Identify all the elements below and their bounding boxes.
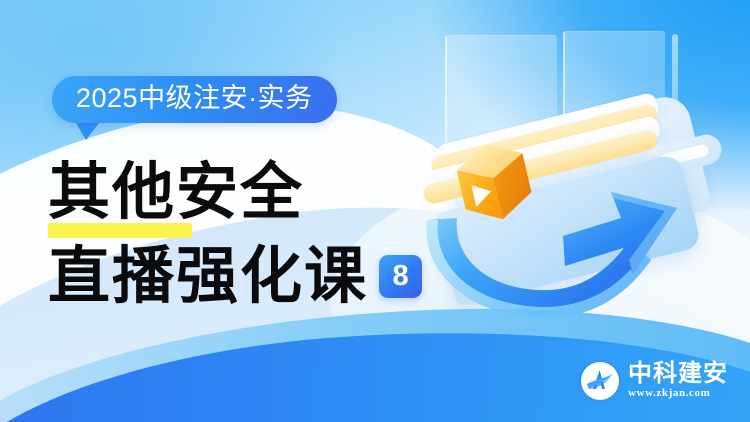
- brand-url: www.zkjan.com: [628, 386, 728, 400]
- brand-name: 中科建安: [628, 361, 728, 386]
- headline-block: 其他安全 直播强化课 8: [48, 155, 468, 235]
- zkjan-logo-icon: [581, 362, 619, 400]
- headline-line-2-row: 直播强化课 8: [48, 239, 422, 313]
- headline-line-1-row: 其他安全: [48, 155, 468, 235]
- brand-text-block: 中科建安 www.zkjan.com: [628, 361, 728, 400]
- course-category-badge: 2025中级注安·实务: [52, 76, 337, 123]
- brand-logo: 中科建安 www.zkjan.com: [581, 361, 728, 400]
- badge-pill-tail: [76, 123, 99, 140]
- course-poster: 2025中级注安·实务 其他安全 直播强化课 8 中科建安 www.zkjan.…: [0, 0, 750, 422]
- headline-line-2: 直播强化课: [48, 239, 368, 313]
- episode-number-badge: 8: [379, 255, 422, 298]
- headline-line-1: 其他安全: [48, 155, 468, 229]
